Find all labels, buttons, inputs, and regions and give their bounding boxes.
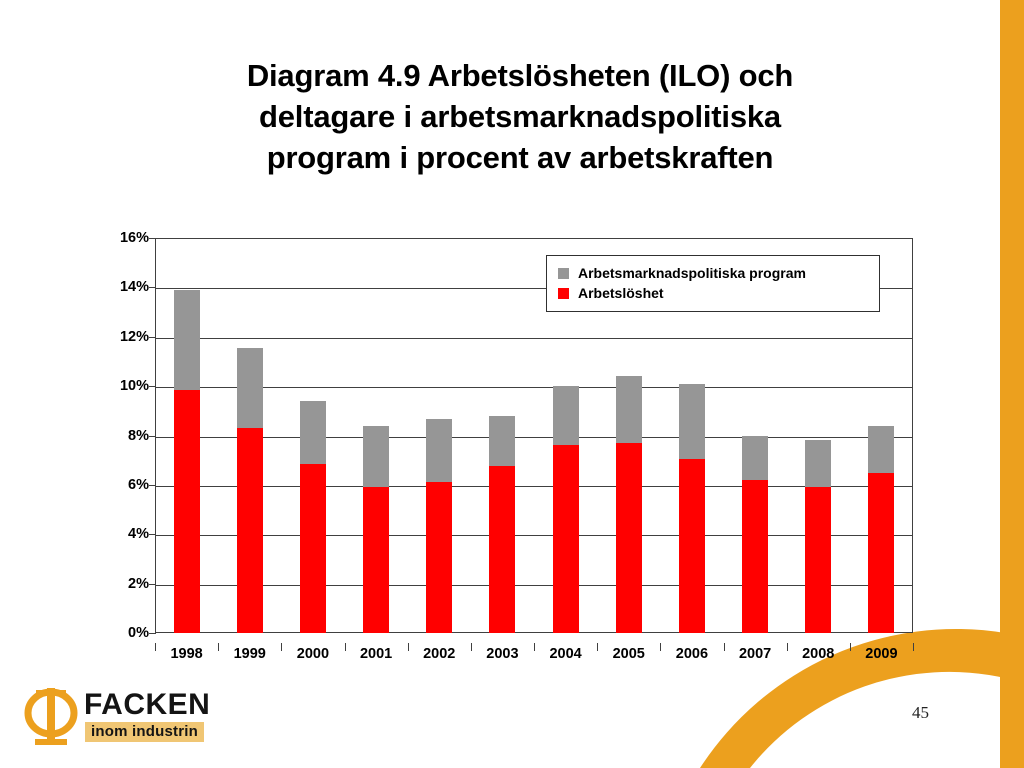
page-number: 45 xyxy=(912,703,929,723)
y-axis-tick-mark xyxy=(149,633,156,634)
bar-group[interactable] xyxy=(363,426,389,633)
bar-segment-program[interactable] xyxy=(489,416,515,467)
orange-connector xyxy=(1000,655,1024,700)
y-axis-labels: 0%2%4%6%8%10%12%14%16% xyxy=(93,238,149,633)
legend-swatch-unemployment xyxy=(558,288,569,299)
bar-group[interactable] xyxy=(489,416,515,633)
bar-segment-program[interactable] xyxy=(300,401,326,464)
x-axis-tick-label: 2000 xyxy=(297,646,329,662)
bar-segment-program[interactable] xyxy=(679,384,705,459)
y-axis-tick-label: 12% xyxy=(120,329,149,345)
x-axis-tick-label: 1999 xyxy=(234,646,266,662)
bar-group[interactable] xyxy=(237,348,263,633)
y-axis-tick-label: 2% xyxy=(128,576,149,592)
bar-segment-unemployment[interactable] xyxy=(553,445,579,633)
bar-segment-program[interactable] xyxy=(237,348,263,428)
legend-item-unemployment[interactable]: Arbetslöshet xyxy=(558,283,870,303)
bar-segment-unemployment[interactable] xyxy=(616,443,642,633)
bar-group[interactable] xyxy=(300,401,326,633)
x-axis-tick-label: 2001 xyxy=(360,646,392,662)
x-axis-tick-label: 2006 xyxy=(676,646,708,662)
y-axis-tick-label: 8% xyxy=(128,428,149,444)
title-line-1: Diagram 4.9 Arbetslösheten (ILO) och xyxy=(120,56,920,97)
bar-segment-unemployment[interactable] xyxy=(742,480,768,633)
y-axis-tick-label: 4% xyxy=(128,526,149,542)
chart-legend: Arbetsmarknadspolitiska program Arbetslö… xyxy=(546,255,880,312)
logo-wordmark: FACKEN xyxy=(84,688,210,722)
x-axis-tick-label: 2009 xyxy=(865,646,897,662)
y-axis-tick-label: 10% xyxy=(120,378,149,394)
x-axis-labels: 1998199920002001200220032004200520062007… xyxy=(155,646,913,670)
torch-phi-icon xyxy=(22,686,80,748)
bar-segment-program[interactable] xyxy=(363,426,389,488)
legend-label-unemployment: Arbetslöshet xyxy=(578,285,664,301)
bar-segment-unemployment[interactable] xyxy=(868,473,894,633)
bar-segment-program[interactable] xyxy=(426,419,452,482)
y-axis-tick-label: 14% xyxy=(120,279,149,295)
bar-segment-program[interactable] xyxy=(805,440,831,487)
legend-swatch-program xyxy=(558,268,569,279)
bar-segment-program[interactable] xyxy=(868,426,894,473)
x-axis-tick-label: 1998 xyxy=(170,646,202,662)
y-axis-tick-label: 6% xyxy=(128,477,149,493)
bar-group[interactable] xyxy=(679,384,705,633)
page-title: Diagram 4.9 Arbetslösheten (ILO) och del… xyxy=(120,56,920,179)
bar-group[interactable] xyxy=(868,426,894,633)
bar-group[interactable] xyxy=(805,440,831,633)
brand-logo: FACKEN inom industrin xyxy=(22,686,212,752)
orange-right-bar xyxy=(1000,0,1024,768)
title-line-2: deltagare i arbetsmarknadspolitiska xyxy=(120,97,920,138)
bar-segment-unemployment[interactable] xyxy=(237,428,263,633)
bar-segment-program[interactable] xyxy=(616,376,642,443)
x-axis-tick-mark xyxy=(913,643,914,651)
title-line-3: program i procent av arbetskraften xyxy=(120,138,920,179)
bar-group[interactable] xyxy=(553,386,579,633)
x-axis-tick-label: 2008 xyxy=(802,646,834,662)
bar-group[interactable] xyxy=(426,419,452,633)
stacked-bar-chart: 0%2%4%6%8%10%12%14%16% 19981999200020012… xyxy=(93,228,923,673)
bar-group[interactable] xyxy=(742,436,768,634)
bar-segment-unemployment[interactable] xyxy=(679,459,705,633)
bar-group[interactable] xyxy=(174,290,200,633)
legend-item-program[interactable]: Arbetsmarknadspolitiska program xyxy=(558,263,870,283)
bar-segment-program[interactable] xyxy=(553,386,579,445)
x-axis-tick-label: 2004 xyxy=(549,646,581,662)
x-axis-tick-label: 2007 xyxy=(739,646,771,662)
bar-group[interactable] xyxy=(616,376,642,633)
bar-segment-unemployment[interactable] xyxy=(805,487,831,633)
logo-subtext: inom industrin xyxy=(85,722,204,742)
y-axis-tick-label: 16% xyxy=(120,230,149,246)
legend-label-program: Arbetsmarknadspolitiska program xyxy=(578,265,806,281)
bar-segment-unemployment[interactable] xyxy=(363,487,389,633)
bar-segment-unemployment[interactable] xyxy=(174,390,200,633)
bar-segment-program[interactable] xyxy=(742,436,768,480)
bar-segment-unemployment[interactable] xyxy=(300,464,326,633)
x-axis-tick-label: 2003 xyxy=(486,646,518,662)
bar-segment-program[interactable] xyxy=(174,290,200,390)
x-axis-tick-label: 2002 xyxy=(423,646,455,662)
bar-segment-unemployment[interactable] xyxy=(426,482,452,633)
x-axis-tick-label: 2005 xyxy=(613,646,645,662)
y-axis-tick-label: 0% xyxy=(128,625,149,641)
bar-segment-unemployment[interactable] xyxy=(489,466,515,633)
